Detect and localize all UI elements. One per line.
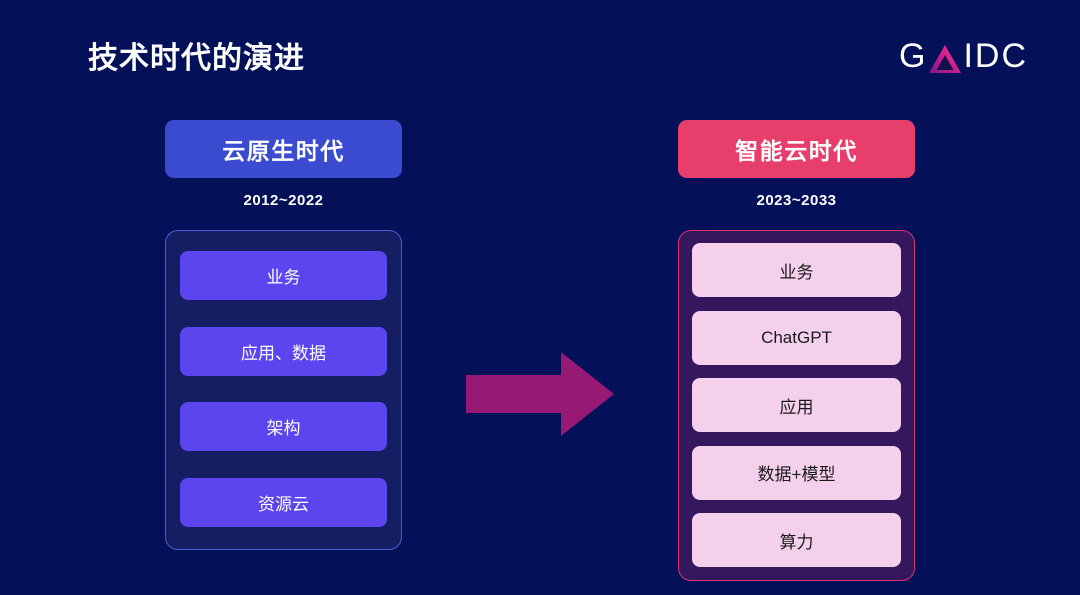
layer-item-label: 数据+模型 — [758, 460, 836, 485]
page-title: 技术时代的演进 — [88, 33, 305, 77]
layer-item-label: 算力 — [780, 528, 814, 553]
layer-item-label: 资源云 — [258, 490, 309, 515]
layer-item[interactable]: 业务 — [180, 251, 387, 300]
layer-item-label: 应用、数据 — [241, 339, 326, 364]
slide-canvas: 技术时代的演进 G IDC 云原生时代 2012~2022 — [0, 0, 1080, 595]
era-range-cloud-native: 2012~2022 — [165, 192, 402, 209]
era-header-intelligent-cloud: 智能云时代 — [678, 120, 915, 178]
layer-item[interactable]: 架构 — [180, 402, 387, 451]
logo-text-after: IDC — [963, 39, 1028, 73]
gaidc-logo: G IDC — [899, 36, 1028, 76]
era-header-cloud-native: 云原生时代 — [165, 120, 402, 178]
layer-item[interactable]: 算力 — [692, 513, 901, 567]
transition-arrow — [466, 352, 614, 436]
layer-item-label: 架构 — [267, 414, 301, 439]
triangle-a-mark-icon — [928, 44, 962, 74]
layer-item-label: 应用 — [780, 393, 814, 418]
era-stack-intelligent-cloud: 业务 ChatGPT 应用 数据+模型 算力 — [678, 230, 915, 581]
layer-item[interactable]: ChatGPT — [692, 311, 901, 365]
era-header-label: 云原生时代 — [222, 132, 345, 166]
era-range-intelligent-cloud: 2023~2033 — [678, 192, 915, 209]
era-header-label: 智能云时代 — [735, 132, 858, 166]
era-column-intelligent-cloud: 智能云时代 2023~2033 业务 ChatGPT 应用 数据+模型 算力 — [678, 120, 915, 581]
layer-item[interactable]: 应用、数据 — [180, 327, 387, 376]
layer-item[interactable]: 应用 — [692, 378, 901, 432]
layer-item[interactable]: 数据+模型 — [692, 446, 901, 500]
layer-item-label: 业务 — [780, 258, 814, 283]
era-stack-cloud-native: 业务 应用、数据 架构 资源云 — [165, 230, 402, 550]
era-column-cloud-native: 云原生时代 2012~2022 业务 应用、数据 架构 资源云 — [165, 120, 402, 550]
layer-item[interactable]: 资源云 — [180, 478, 387, 527]
layer-item[interactable]: 业务 — [692, 243, 901, 297]
layer-item-label: 业务 — [267, 263, 301, 288]
logo-text-before: G — [899, 39, 927, 73]
layer-item-label: ChatGPT — [761, 328, 832, 348]
